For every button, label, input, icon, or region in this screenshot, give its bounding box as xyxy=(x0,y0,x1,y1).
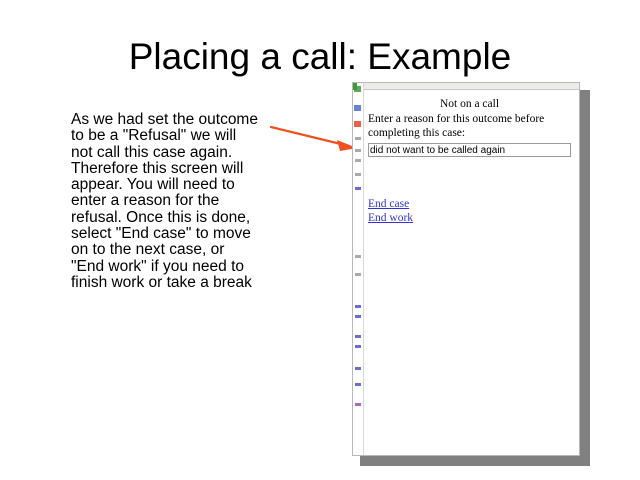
gutter-link-fragment xyxy=(355,335,361,338)
page-title: Placing a call: Example xyxy=(0,36,640,78)
slide-body-text: As we had set the outcome to be a "Refus… xyxy=(71,112,261,291)
gutter-link-fragment xyxy=(355,403,361,406)
gutter-text-fragment xyxy=(355,255,361,258)
clipped-toolbar-strip xyxy=(364,83,579,90)
gutter-link-fragment xyxy=(355,345,361,348)
gutter-link-fragment xyxy=(355,305,361,308)
gutter-link-fragment xyxy=(355,383,361,386)
gutter-text-fragment xyxy=(355,149,361,152)
end-work-link[interactable]: End work xyxy=(368,212,413,225)
panel-instruction-text: Enter a reason for this outcome before c… xyxy=(368,113,571,140)
app-screenshot-image: Not on a call Enter a reason for this ou… xyxy=(352,82,590,466)
panel-spacer xyxy=(368,157,571,198)
clipped-left-gutter xyxy=(353,83,364,455)
red-arrow-icon xyxy=(265,118,360,158)
gutter-text-fragment xyxy=(355,173,361,176)
gutter-text-fragment xyxy=(355,137,361,140)
panel-content: Not on a call Enter a reason for this ou… xyxy=(365,91,577,455)
slide-canvas: Placing a call: Example As we had set th… xyxy=(0,0,640,480)
gutter-icon-fragment-blue xyxy=(354,105,361,111)
gutter-text-fragment xyxy=(355,273,361,276)
gutter-link-fragment xyxy=(355,315,361,318)
gutter-link-fragment xyxy=(355,187,361,190)
panel-heading: Not on a call xyxy=(368,98,571,110)
gutter-link-fragment xyxy=(355,367,361,370)
gutter-icon-fragment-red xyxy=(354,121,361,127)
end-case-link[interactable]: End case xyxy=(368,198,409,211)
browser-window-frame: Not on a call Enter a reason for this ou… xyxy=(352,82,580,456)
gutter-text-fragment xyxy=(355,159,361,162)
reason-input[interactable] xyxy=(368,143,571,157)
toolbar-green-marker xyxy=(353,83,357,90)
